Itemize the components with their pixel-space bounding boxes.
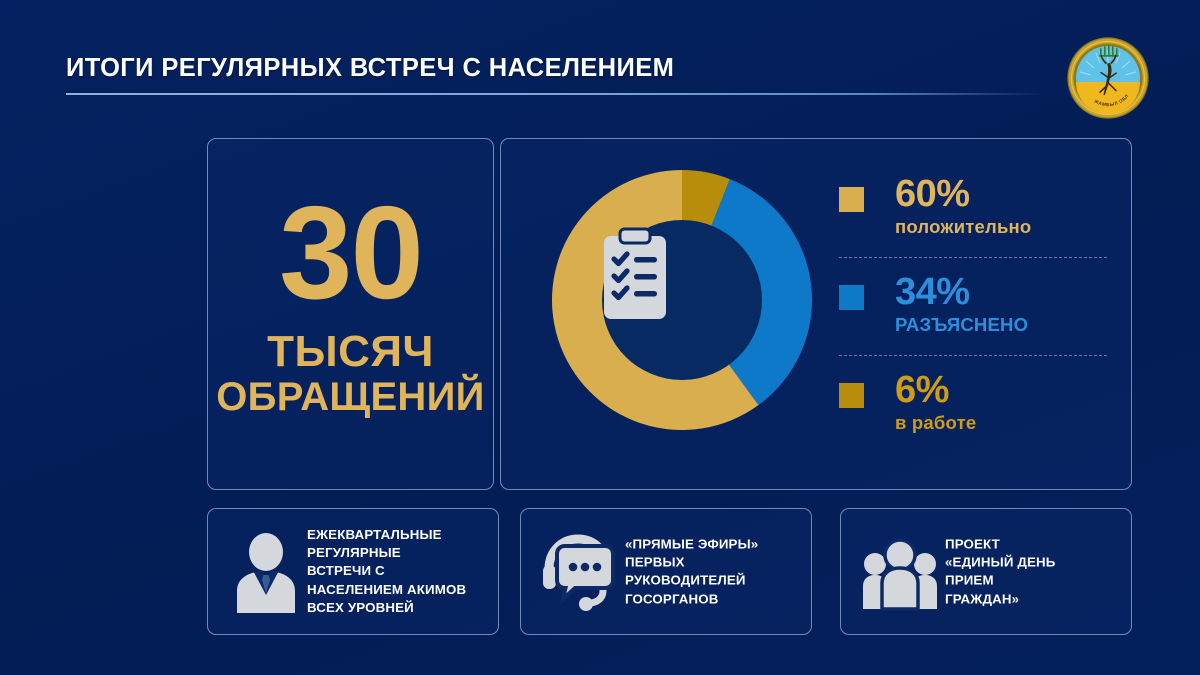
legend-text: 60% положительно — [895, 175, 1109, 237]
slide-root: ИТОГИ РЕГУЛЯРНЫХ ВСТРЕЧ С НАСЕЛЕНИЕМ — [0, 0, 1200, 675]
legend-label: в работе — [895, 412, 1109, 433]
person-in-suit-icon — [230, 531, 302, 613]
donut-chart — [548, 166, 816, 434]
legend-percent: 34% — [895, 273, 1109, 312]
slide-header: ИТОГИ РЕГУЛЯРНЫХ ВСТРЕЧ С НАСЕЛЕНИЕМ — [0, 0, 1200, 120]
stat-subject: ОБРАЩЕНИЙ — [208, 377, 493, 419]
page-title: ИТОГИ РЕГУЛЯРНЫХ ВСТРЕЧ С НАСЕЛЕНИЕМ — [66, 54, 674, 83]
legend-label: РАЗЪЯСНЕНО — [895, 314, 1109, 335]
legend-item[interactable]: 34% РАЗЪЯСНЕНО — [837, 273, 1109, 359]
stat-number: 30 — [208, 187, 493, 319]
chart-legend: 60% положительно 34% РАЗЪЯСНЕНО 6% в раб… — [837, 169, 1109, 459]
legend-swatch-positive — [839, 187, 864, 212]
stat-panel: 30 ТЫСЯЧ ОБРАЩЕНИЙ — [207, 138, 494, 490]
stat-unit: ТЫСЯЧ — [208, 329, 493, 375]
chart-panel: 60% положительно 34% РАЗЪЯСНЕНО 6% в раб… — [500, 138, 1132, 490]
info-card-text: ЕЖЕКВАРТАЛЬНЫЕ РЕГУЛЯРНЫЕ ВСТРЕЧИ С НАСЕ… — [307, 526, 489, 618]
regional-emblem-icon: ЖАМБЫЛ ОБЛЫСЫ — [1066, 36, 1150, 120]
legend-percent: 60% — [895, 175, 1109, 214]
group-of-people-icon — [861, 531, 939, 613]
legend-text: 34% РАЗЪЯСНЕНО — [895, 273, 1109, 335]
legend-swatch-in-progress — [839, 383, 864, 408]
info-card-text: «ПРЯМЫЕ ЭФИРЫ» ПЕРВЫХ РУКОВОДИТЕЛЕЙ ГОСО… — [625, 535, 803, 608]
legend-divider — [839, 355, 1107, 356]
info-card-live-broadcasts[interactable]: «ПРЯМЫЕ ЭФИРЫ» ПЕРВЫХ РУКОВОДИТЕЛЕЙ ГОСО… — [520, 508, 812, 635]
legend-item[interactable]: 6% в работе — [837, 371, 1109, 457]
legend-text: 6% в работе — [895, 371, 1109, 433]
legend-divider — [839, 257, 1107, 258]
info-card-text: ПРОЕКТ «ЕДИНЫЙ ДЕНЬ ПРИЕМ ГРАЖДАН» — [945, 535, 1123, 608]
clipboard-checklist-icon — [602, 227, 668, 321]
title-divider — [66, 93, 1046, 95]
info-card-citizens-reception-day[interactable]: ПРОЕКТ «ЕДИНЫЙ ДЕНЬ ПРИЕМ ГРАЖДАН» — [840, 508, 1132, 635]
info-card-quarterly-meetings[interactable]: ЕЖЕКВАРТАЛЬНЫЕ РЕГУЛЯРНЫЕ ВСТРЕЧИ С НАСЕ… — [207, 508, 499, 635]
headset-chat-icon — [539, 531, 615, 613]
legend-label: положительно — [895, 216, 1109, 237]
legend-item[interactable]: 60% положительно — [837, 175, 1109, 261]
legend-swatch-explained — [839, 285, 864, 310]
legend-percent: 6% — [895, 371, 1109, 410]
